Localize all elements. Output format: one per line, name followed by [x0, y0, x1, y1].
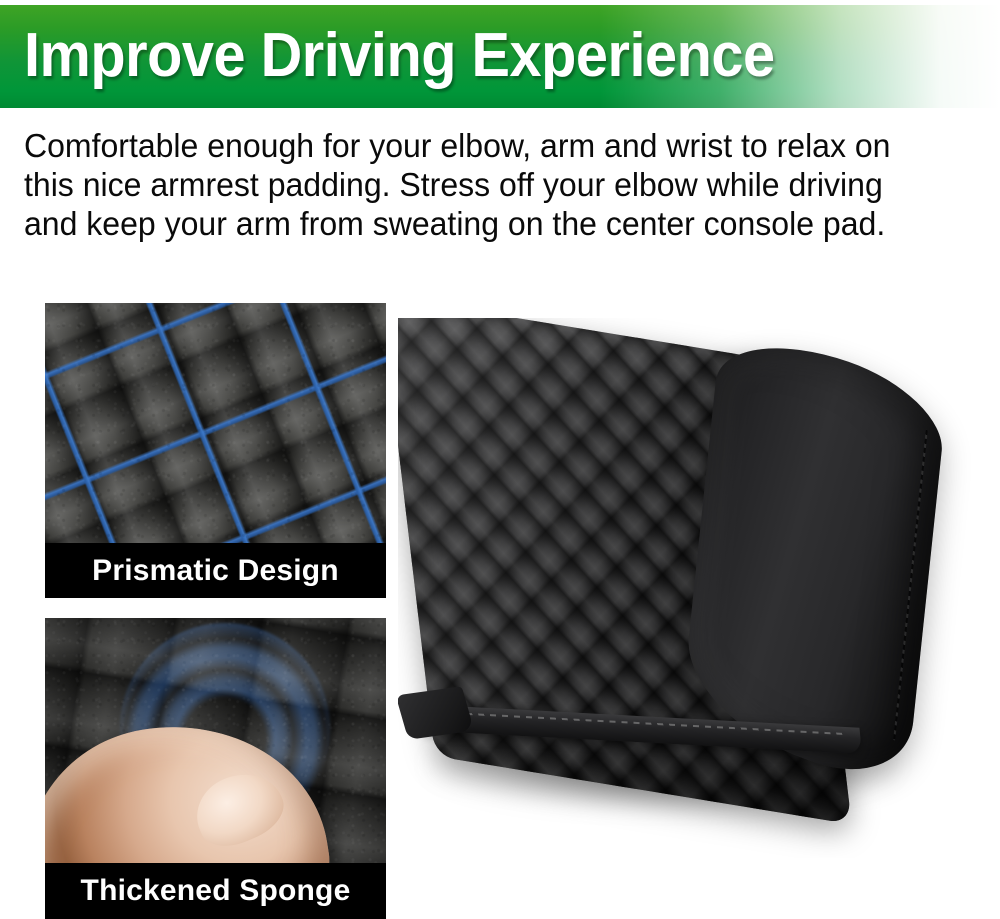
page-title: Improve Driving Experience — [24, 21, 775, 91]
description-paragraph: Comfortable enough for your elbow, arm a… — [24, 126, 941, 243]
feature-card-prismatic-design: Prismatic Design — [45, 303, 386, 598]
hero-product-image — [398, 318, 998, 858]
fingernail — [185, 761, 292, 856]
feature-caption-prismatic-design: Prismatic Design — [45, 543, 386, 598]
armrest-pad-corner-fold — [398, 686, 474, 739]
leather-grain-overlay — [45, 303, 386, 543]
feature-caption-thickened-sponge: Thickened Sponge — [45, 863, 386, 919]
prismatic-design-image — [45, 303, 386, 543]
side-seam-stitching — [893, 430, 928, 741]
header-banner: Improve Driving Experience — [0, 5, 1000, 108]
thickened-sponge-image — [45, 618, 386, 863]
feature-card-thickened-sponge: Thickened Sponge — [45, 618, 386, 919]
